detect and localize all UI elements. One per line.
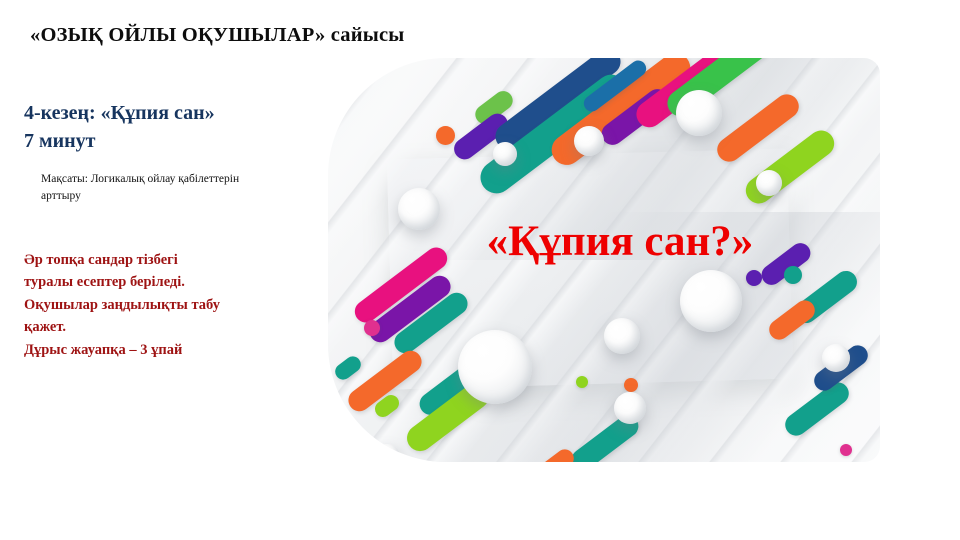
capsule-orange-small (436, 126, 455, 145)
sphere-mid-upper (493, 142, 517, 166)
sphere-bottom-left (374, 444, 400, 462)
capsule-orange-bottom (535, 446, 578, 462)
stage-heading-line-1: 4-кезең: «Құпия сан» (24, 100, 324, 128)
stage-heading-line-2: 7 минут (24, 128, 324, 156)
task-line: Әр топқа сандар тізбегі (24, 249, 306, 272)
sphere-right-low (822, 344, 850, 372)
artwork-center-plate (387, 148, 793, 389)
sphere-top-right (676, 90, 722, 136)
page-title: «ОЗЫҚ ОЙЛЫ ОҚУШЫЛАР» сайысы (30, 24, 404, 47)
dot-pink (840, 444, 852, 456)
task-line: туралы есептер беріледі. (24, 271, 306, 294)
dot-teal (784, 266, 802, 284)
task-line: Дұрыс жауапқа – 3 ұпай (24, 339, 306, 362)
dot-orange (624, 378, 638, 392)
task-line: қажет. (24, 316, 306, 339)
sphere-big-center (458, 330, 532, 404)
sphere-bottom-a (614, 392, 646, 424)
task-description: Әр топқа сандар тізбегі туралы есептер б… (24, 249, 306, 362)
dot-magenta (364, 320, 380, 336)
sphere-right-mid (756, 170, 782, 196)
secret-number-caption: «Құпия сан?» (420, 217, 820, 266)
dot-violet (746, 270, 762, 286)
goal-text: Мақсаты: Логикалық ойлау қабілеттерін ар… (41, 171, 276, 204)
capsule-teal-mini (332, 353, 364, 383)
sphere-lower-mid (604, 318, 640, 354)
left-text-column: 4-кезең: «Құпия сан» 7 минут Мақсаты: Ло… (24, 100, 324, 362)
sphere-center-a (574, 126, 604, 156)
sphere-big-right (680, 270, 742, 332)
task-line: Оқушылар заңдылықты табу (24, 294, 306, 317)
dot-lime (576, 376, 588, 388)
